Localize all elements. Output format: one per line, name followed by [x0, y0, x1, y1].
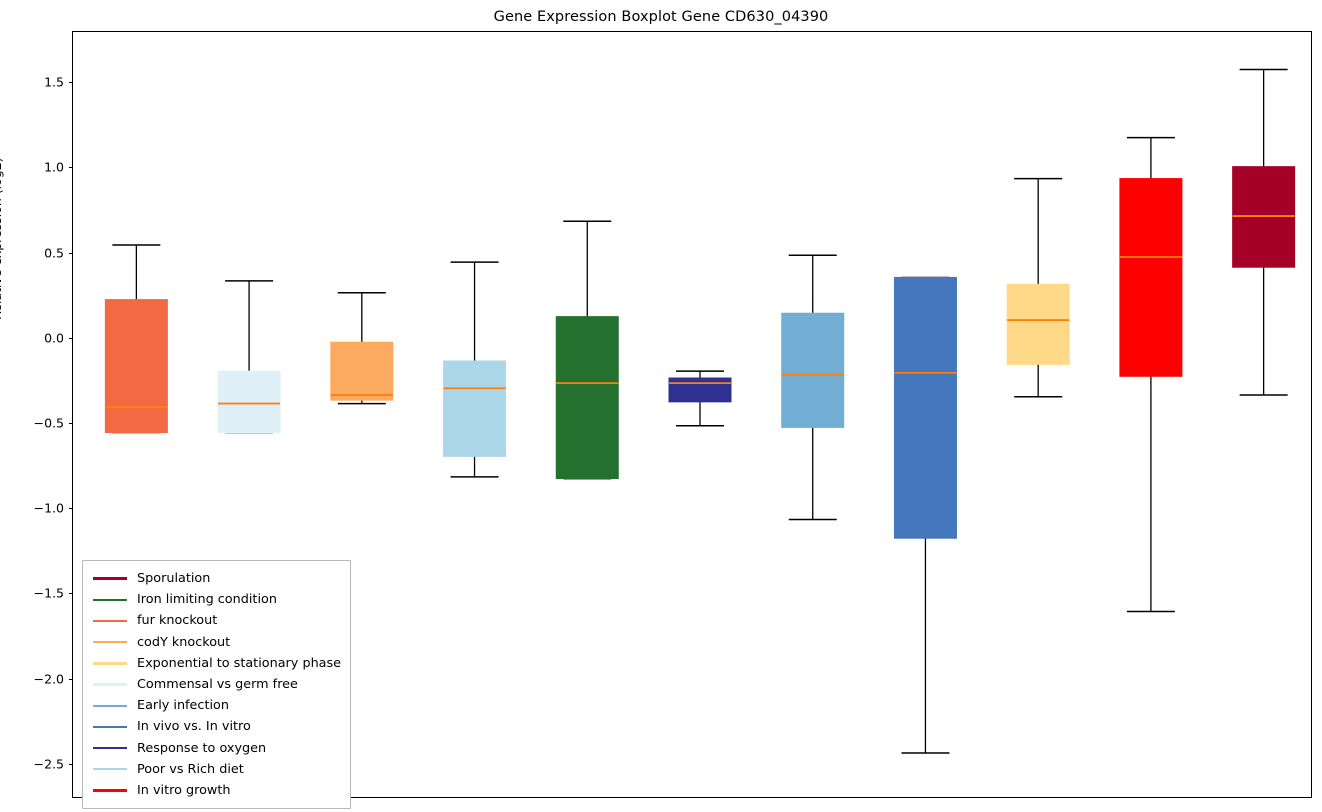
legend-item-label: Iron limiting condition [137, 592, 277, 607]
legend-color-swatch [93, 599, 127, 601]
legend-item[interactable]: Exponential to stationary phase [89, 653, 341, 674]
boxplot-box[interactable] [105, 245, 167, 432]
figure-canvas: Gene Expression Boxplot Gene CD630_04390… [0, 0, 1322, 812]
legend-item-label: Poor vs Rich diet [137, 762, 244, 777]
y-tick-label: 1.0 [10, 160, 64, 175]
box-rect[interactable] [669, 378, 731, 402]
y-tick-label: 1.5 [10, 75, 64, 90]
box-rect[interactable] [782, 313, 844, 427]
legend-item-label: Early infection [137, 698, 229, 713]
boxplot-box[interactable] [218, 281, 280, 433]
legend-item-label: fur knockout [137, 613, 217, 628]
page-title: Gene Expression Boxplot Gene CD630_04390 [0, 9, 1322, 25]
box-rect[interactable] [894, 277, 956, 538]
y-tick-label: 0.0 [10, 330, 64, 345]
legend-color-swatch [93, 768, 127, 770]
y-tick-label: −2.0 [10, 671, 64, 686]
boxplot-box[interactable] [1233, 69, 1295, 395]
legend-item[interactable]: fur knockout [89, 610, 341, 631]
legend-item[interactable]: Early infection [89, 695, 341, 716]
legend-item[interactable]: Commensal vs germ free [89, 674, 341, 695]
legend-item[interactable]: Poor vs Rich diet [89, 759, 341, 780]
legend-item[interactable]: Iron limiting condition [89, 589, 341, 610]
legend-color-swatch [93, 789, 127, 791]
legend-item-label: In vivo vs. In vitro [137, 719, 251, 734]
legend-item[interactable]: codY knockout [89, 632, 341, 653]
boxplot-box[interactable] [1120, 138, 1182, 612]
boxplot-box[interactable] [782, 255, 844, 519]
legend-color-swatch [93, 683, 127, 685]
box-rect[interactable] [331, 342, 393, 400]
legend-item[interactable]: In vivo vs. In vitro [89, 716, 341, 737]
legend-item-label: codY knockout [137, 635, 230, 650]
legend-color-swatch [93, 726, 127, 728]
legend-item-label: Commensal vs germ free [137, 677, 298, 692]
boxplot-box[interactable] [1007, 179, 1069, 397]
legend-item-label: Sporulation [137, 571, 210, 586]
legend: SporulationIron limiting conditionfur kn… [82, 560, 351, 809]
y-axis-tick-labels: 1.51.00.50.0−0.5−1.0−1.5−2.0−2.5 [0, 31, 64, 798]
boxplot-box[interactable] [556, 221, 618, 478]
legend-item-label: Response to oxygen [137, 741, 266, 756]
boxplot-box[interactable] [894, 277, 956, 753]
box-rect[interactable] [1007, 284, 1069, 364]
legend-item[interactable]: Sporulation [89, 568, 341, 589]
box-rect[interactable] [444, 361, 506, 456]
box-rect[interactable] [556, 317, 618, 479]
legend-color-swatch [93, 620, 127, 622]
boxplot-box[interactable] [669, 371, 731, 426]
box-rect[interactable] [218, 371, 280, 432]
legend-color-swatch [93, 705, 127, 707]
box-rect[interactable] [1120, 179, 1182, 377]
legend-item[interactable]: Response to oxygen [89, 738, 341, 759]
y-tick-label: −0.5 [10, 416, 64, 431]
y-tick-label: −2.5 [10, 756, 64, 771]
box-rect[interactable] [105, 300, 167, 433]
legend-color-swatch [93, 747, 127, 749]
boxplot-box[interactable] [444, 262, 506, 477]
boxplot-box[interactable] [331, 293, 393, 404]
legend-item-label: In vitro growth [137, 783, 231, 798]
y-tick-label: 0.5 [10, 245, 64, 260]
legend-color-swatch [93, 662, 127, 664]
legend-color-swatch [93, 577, 127, 579]
legend-item[interactable]: In vitro growth [89, 780, 341, 801]
legend-color-swatch [93, 641, 127, 643]
y-tick-label: −1.5 [10, 586, 64, 601]
legend-item-label: Exponential to stationary phase [137, 656, 341, 671]
y-tick-label: −1.0 [10, 501, 64, 516]
